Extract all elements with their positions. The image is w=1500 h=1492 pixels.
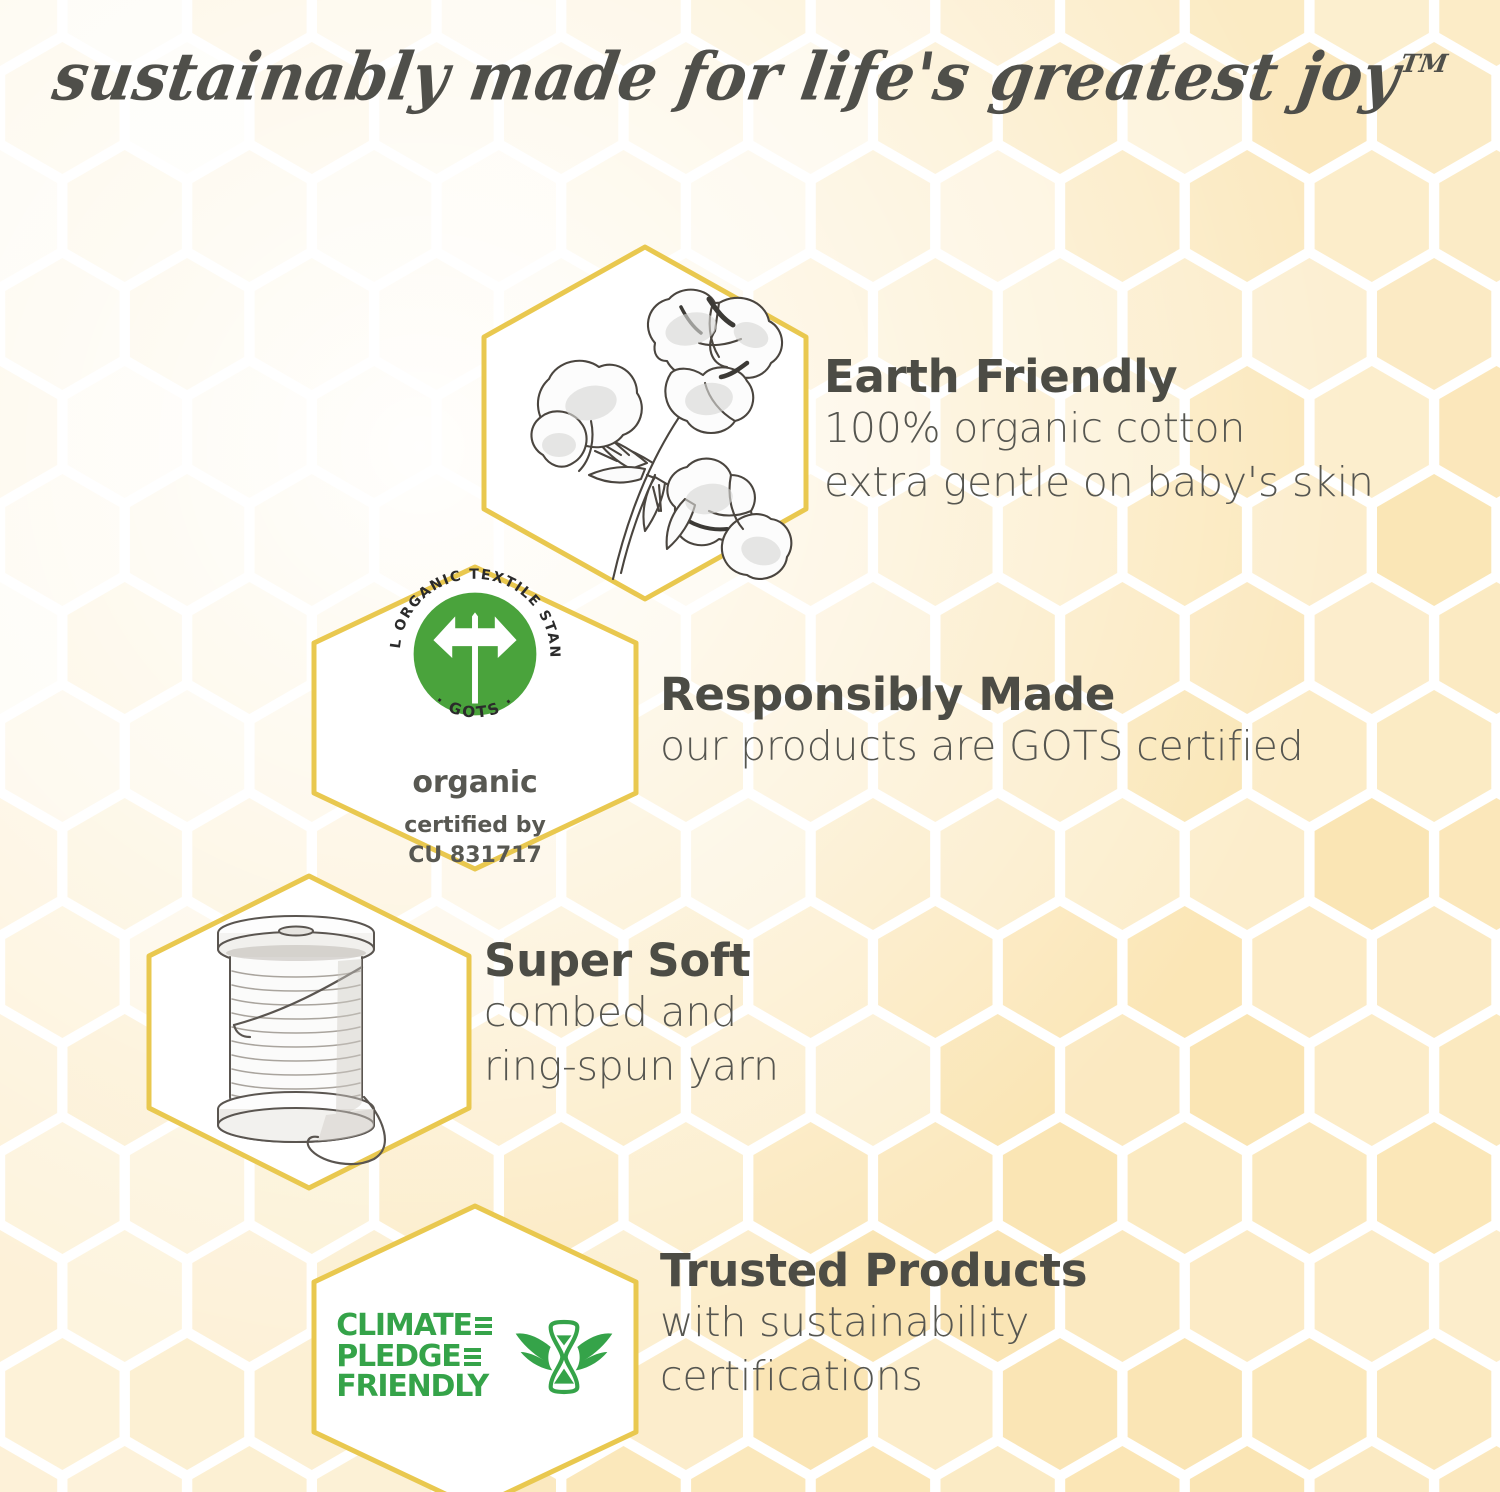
feature-hex-earth-friendly [480, 243, 810, 603]
gots-seal-icon: GLOBAL ORGANIC TEXTILE STANDARD · GOTS · [376, 555, 574, 753]
headline-text: sustainably made for life's greatest joy [48, 39, 1405, 116]
cotton-plant-icon [495, 263, 795, 583]
feature-line: 100% organic cotton [824, 402, 1374, 455]
page-title: sustainably made for life's greatest joy… [0, 42, 1500, 113]
feature-line: certifications [660, 1350, 1087, 1403]
feature-line: our products are GOTS certified [660, 720, 1304, 773]
feature-title: Earth Friendly [824, 352, 1374, 402]
cpf-line-2: PLEDGE [336, 1342, 460, 1373]
feature-hex-responsibly-made: GLOBAL ORGANIC TEXTILE STANDARD · GOTS ·… [310, 563, 640, 873]
feature-line: combed and [484, 986, 779, 1039]
feature-hex-super-soft [145, 872, 473, 1192]
cpf-line-1: CLIMATE [336, 1311, 472, 1342]
feature-text-super-soft: Super Soft combed and ring-spun yarn [484, 936, 779, 1093]
feature-line: with sustainability [660, 1296, 1087, 1349]
feature-line: ring-spun yarn [484, 1040, 779, 1093]
gots-badge: GLOBAL ORGANIC TEXTILE STANDARD · GOTS ·… [376, 555, 574, 869]
cpf-line-3: FRIENDLY [336, 1372, 488, 1403]
thread-spool-icon [178, 901, 428, 1171]
feature-line: extra gentle on baby's skin [824, 456, 1374, 509]
gots-organic-label: organic [412, 765, 537, 800]
feature-title: Responsibly Made [660, 670, 1304, 720]
cpf-bars-icon [464, 1348, 481, 1366]
gots-certified-by-label: certified by [404, 812, 546, 839]
infographic-canvas: sustainably made for life's greatest joy… [0, 0, 1500, 1492]
trademark-symbol: TM [1399, 49, 1450, 78]
climate-pledge-friendly-logo: CLIMATE PLEDGE FRIENDLY [336, 1311, 614, 1403]
feature-title: Super Soft [484, 936, 779, 986]
cpf-bars-icon [475, 1317, 492, 1335]
feature-hex-trusted-products: CLIMATE PLEDGE FRIENDLY [310, 1202, 640, 1492]
feature-title: Trusted Products [660, 1246, 1087, 1296]
winged-hourglass-icon [514, 1317, 614, 1397]
feature-text-responsibly-made: Responsibly Made our products are GOTS c… [660, 670, 1304, 774]
feature-text-trusted-products: Trusted Products with sustainability cer… [660, 1246, 1087, 1403]
gots-cert-number: CU 831717 [408, 842, 542, 869]
feature-text-earth-friendly: Earth Friendly 100% organic cotton extra… [824, 352, 1374, 509]
